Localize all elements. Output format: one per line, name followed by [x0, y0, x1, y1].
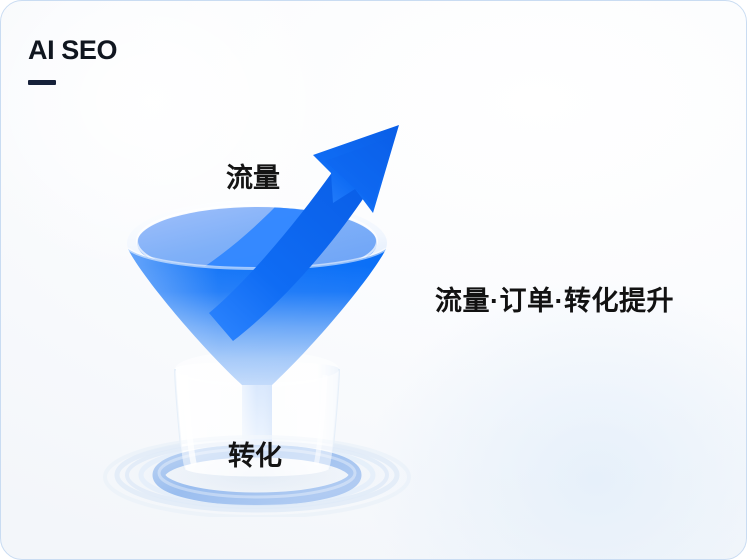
title-block: AI SEO [28, 37, 117, 85]
label-conversion: 转化 [228, 434, 282, 473]
headline-text: 流量·订单·转化提升 [435, 279, 674, 318]
illustration-card: AI SEO 流量·订单·转化提升 [0, 0, 747, 560]
label-traffic: 流量 [226, 156, 280, 195]
page-title: AI SEO [28, 37, 117, 64]
title-underline-rule [28, 80, 56, 85]
